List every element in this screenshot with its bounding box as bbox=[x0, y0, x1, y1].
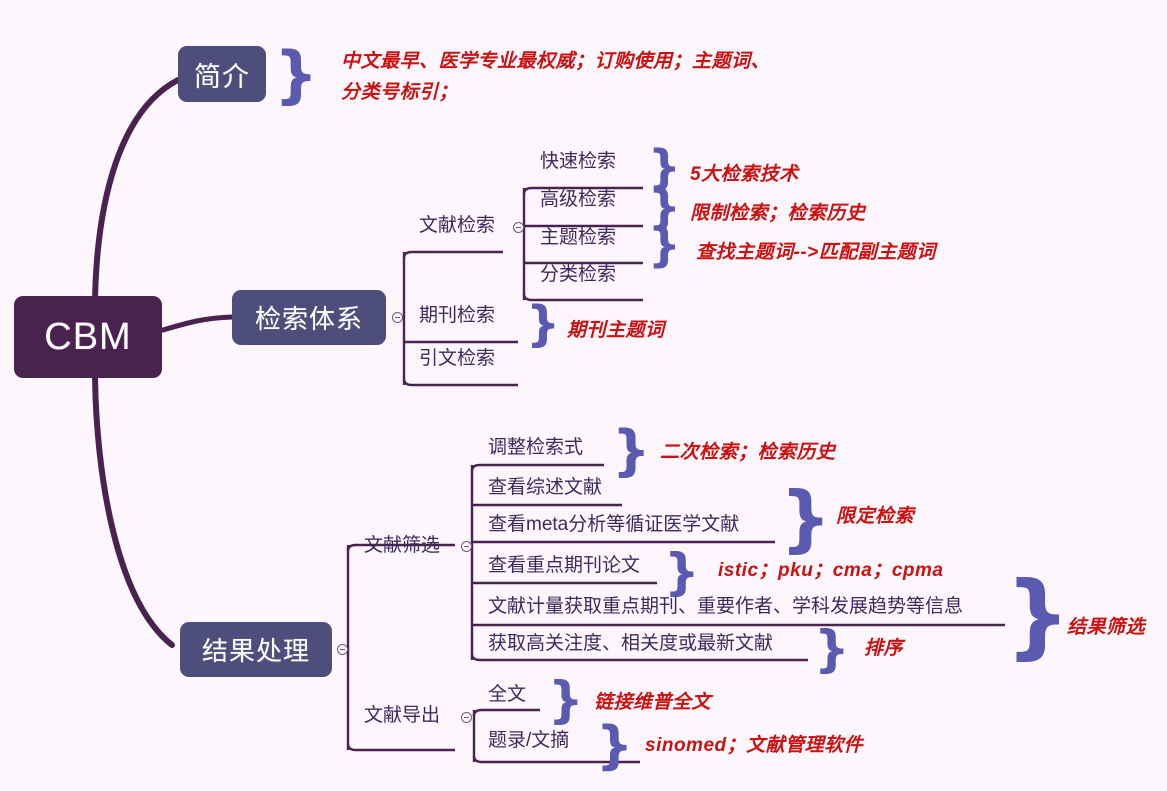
mindmap-canvas: CBM 简介 } 中文最早、医学专业最权威；订购使用；主题词、 分类号标引； 检… bbox=[0, 0, 1167, 791]
leaf-wenxian-daochu[interactable]: 文献导出 bbox=[364, 706, 440, 725]
brace-icon-chakan-zhongdian-qikan: } bbox=[664, 547, 700, 597]
collapse-handle-wenxian-shaixuan[interactable] bbox=[461, 541, 472, 552]
annotation-gaoji-jiansuo: 限制检索；检索历史 bbox=[690, 199, 866, 228]
leaf-kuaisu-jiansuo[interactable]: 快速检索 bbox=[540, 152, 616, 171]
root-node-label: CBM bbox=[44, 316, 131, 359]
brace-icon-tilu-wenzhai: } bbox=[596, 720, 633, 772]
leaf-tilu-wenzhai[interactable]: 题录/文摘 bbox=[488, 731, 569, 750]
leaf-qikan-jiansuo[interactable]: 期刊检索 bbox=[419, 306, 495, 325]
annotation-chakan-meta: 限定检索 bbox=[836, 502, 914, 531]
branch-node-result-handling-label: 结果处理 bbox=[202, 631, 310, 668]
brace-icon-chakan-meta: } bbox=[780, 482, 831, 554]
leaf-fenlei-jiansuo[interactable]: 分类检索 bbox=[540, 265, 616, 284]
branch-node-intro[interactable]: 简介 bbox=[178, 46, 266, 102]
brace-icon-zhuti-jiansuo: } bbox=[648, 222, 681, 268]
annotation-intro-line2: 分类号标引； bbox=[341, 78, 458, 107]
leaf-wenxian-shaixuan[interactable]: 文献筛选 bbox=[364, 536, 440, 555]
leaf-chakan-zongshu[interactable]: 查看综述文献 bbox=[488, 478, 602, 497]
annotation-kuaisu-jiansuo: 5大检索技术 bbox=[690, 160, 799, 189]
root-node-cbm[interactable]: CBM bbox=[14, 296, 162, 378]
leaf-yinwen-jiansuo[interactable]: 引文检索 bbox=[419, 349, 495, 368]
leaf-wenxian-jiansuo[interactable]: 文献检索 bbox=[419, 216, 495, 235]
leaf-zhuti-jiansuo[interactable]: 主题检索 bbox=[540, 228, 616, 247]
branch-node-search-system-label: 检索体系 bbox=[255, 299, 363, 336]
brace-icon-huoqu-gaoguanzhu: } bbox=[814, 624, 850, 674]
leaf-wenxian-jiliang[interactable]: 文献计量获取重点期刊、重要作者、学科发展趋势等信息 bbox=[488, 597, 963, 616]
annotation-tiaozheng-jiansuoshi: 二次检索；检索历史 bbox=[660, 438, 836, 467]
brace-icon-intro: } bbox=[274, 44, 318, 106]
leaf-chakan-zhongdian-qikan[interactable]: 查看重点期刊论文 bbox=[488, 556, 640, 575]
collapse-handle-search-system[interactable] bbox=[392, 312, 403, 323]
annotation-qikan-jiansuo: 期刊主题词 bbox=[567, 316, 665, 345]
branch-node-search-system[interactable]: 检索体系 bbox=[232, 290, 386, 345]
annotation-result-filter-group: 结果筛选 bbox=[1067, 613, 1145, 642]
branch-node-intro-label: 简介 bbox=[194, 55, 250, 94]
leaf-tiaozheng-jiansuoshi[interactable]: 调整检索式 bbox=[488, 438, 583, 457]
annotation-zhuti-jiansuo: 查找主题词-->匹配副主题词 bbox=[696, 238, 936, 267]
collapse-handle-wenxian-daochu[interactable] bbox=[461, 712, 472, 723]
brace-icon-tiaozheng-jiansuoshi: } bbox=[612, 424, 650, 478]
annotation-quanwen: 链接维普全文 bbox=[594, 688, 711, 717]
annotation-huoqu-gaoguanzhu: 排序 bbox=[864, 634, 903, 663]
collapse-handle-wenxian-jiansuo[interactable] bbox=[513, 222, 524, 233]
brace-icon-qikan-jiansuo: } bbox=[526, 300, 560, 348]
leaf-quanwen[interactable]: 全文 bbox=[488, 685, 526, 704]
brace-icon-quanwen: } bbox=[548, 675, 584, 725]
leaf-huoqu-gaoguanzhu[interactable]: 获取高关注度、相关度或最新文献 bbox=[488, 634, 773, 653]
annotation-intro-line1: 中文最早、医学专业最权威；订购使用；主题词、 bbox=[341, 47, 770, 76]
annotation-chakan-zhongdian-qikan: istic；pku；cma；cpma bbox=[718, 556, 943, 585]
branch-node-result-handling[interactable]: 结果处理 bbox=[180, 622, 332, 677]
annotation-tilu-wenzhai: sinomed；文献管理软件 bbox=[645, 731, 863, 760]
leaf-chakan-meta[interactable]: 查看meta分析等循证医学文献 bbox=[488, 515, 739, 534]
leaf-gaoji-jiansuo[interactable]: 高级检索 bbox=[540, 190, 616, 209]
collapse-handle-result-handling[interactable] bbox=[337, 644, 348, 655]
brace-icon-result-filter-group: } bbox=[1005, 570, 1071, 662]
